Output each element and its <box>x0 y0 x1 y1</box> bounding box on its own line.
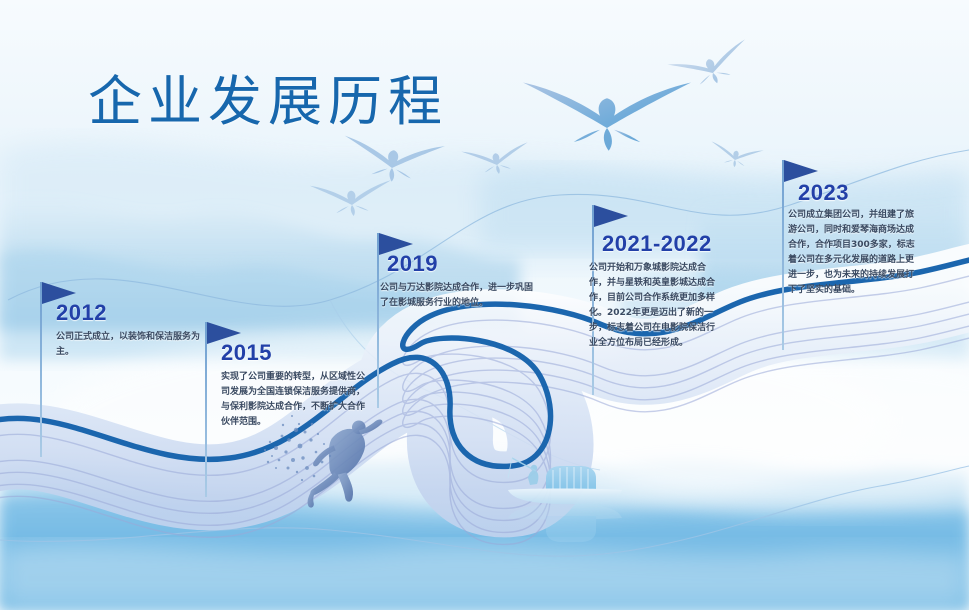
flag-pole <box>782 160 784 350</box>
milestone-description: 公司开始和万象城影院达成合作，并与星轶和英皇影城达成合作，目前公司合作系统更加多… <box>589 261 719 351</box>
milestone-description: 公司成立集团公司，并组建了旅游公司，同时和爱琴海商场达成合作，合作项目300多家… <box>788 208 920 298</box>
flag-pole <box>377 233 379 408</box>
flag-icon <box>784 160 818 182</box>
milestone-description: 公司与万达影院达成合作，进一步巩固了在影城服务行业的地位。 <box>380 281 536 311</box>
poster-canvas: 企业发展历程 2012 公司正式成立，以装饰和保洁服务为主。 2015 实现了公… <box>0 0 969 610</box>
milestone-year: 2015 <box>221 340 272 366</box>
milestone-year: 2021-2022 <box>602 231 712 257</box>
milestone-year: 2023 <box>798 180 849 206</box>
milestone-year: 2012 <box>56 300 107 326</box>
milestone-description: 公司正式成立，以装饰和保洁服务为主。 <box>56 330 208 360</box>
flag-pole <box>40 282 42 457</box>
flag-icon <box>594 205 628 227</box>
milestone-description: 实现了公司重要的转型，从区域性公司发展为全国连锁保洁服务提供商，与保利影院达成合… <box>221 370 367 430</box>
milestone-year: 2019 <box>387 251 438 277</box>
flag-pole <box>205 322 207 497</box>
page-title: 企业发展历程 <box>88 57 448 136</box>
